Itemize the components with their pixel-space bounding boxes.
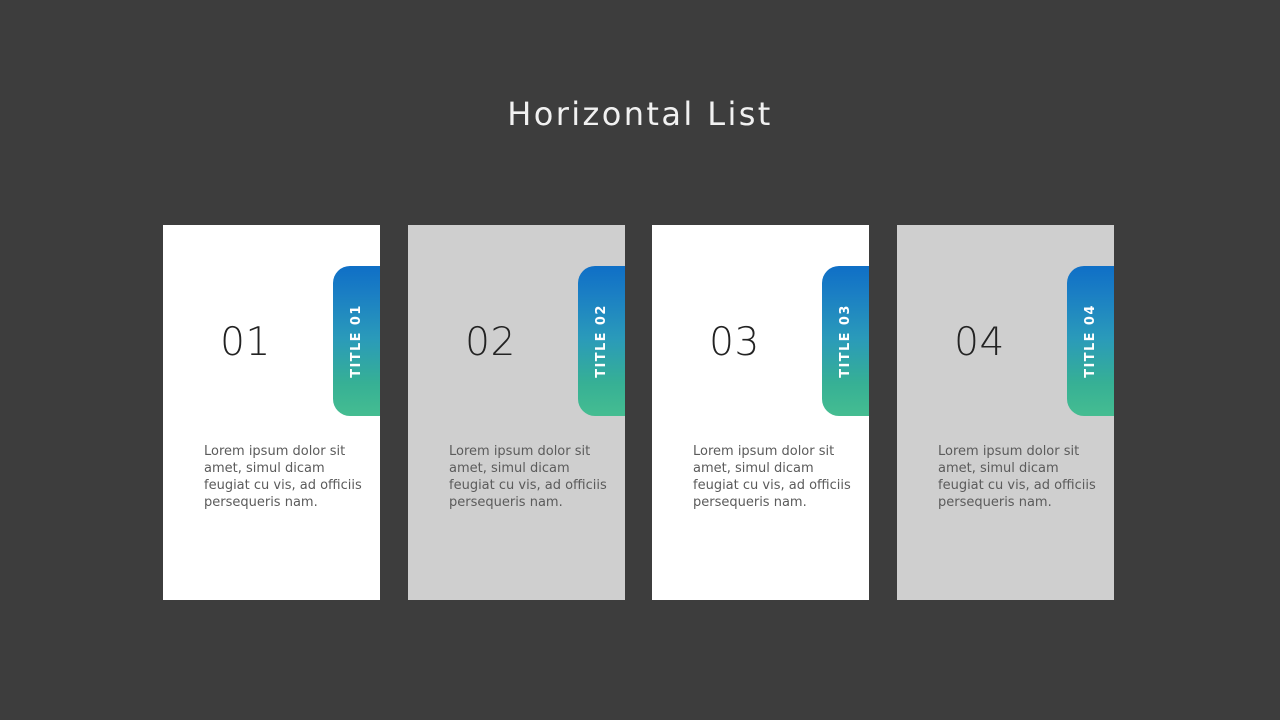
item-body-line-2: feugiat cu vis, ad officiis persequeris … (938, 477, 1098, 511)
horizontal-list-container: 01 TITLE 01 Lorem ipsum dolor sit amet, … (163, 225, 1123, 600)
item-body-line-1: Lorem ipsum dolor sit amet, simul dicam (693, 443, 853, 477)
item-title-label: TITLE 02 (578, 266, 625, 416)
item-body: Lorem ipsum dolor sit amet, simul dicam … (204, 443, 364, 511)
item-body: Lorem ipsum dolor sit amet, simul dicam … (693, 443, 853, 511)
item-body: Lorem ipsum dolor sit amet, simul dicam … (938, 443, 1098, 511)
item-title-label: TITLE 03 (822, 266, 869, 416)
list-item[interactable]: 02 TITLE 02 Lorem ipsum dolor sit amet, … (408, 225, 625, 600)
slide-canvas: Horizontal List 01 TITLE 01 Lorem ipsum … (0, 0, 1280, 720)
list-item[interactable]: 04 TITLE 04 Lorem ipsum dolor sit amet, … (897, 225, 1114, 600)
item-body-line-1: Lorem ipsum dolor sit amet, simul dicam (204, 443, 364, 477)
item-body-line-2: feugiat cu vis, ad officiis persequeris … (204, 477, 364, 511)
item-body-line-2: feugiat cu vis, ad officiis persequeris … (693, 477, 853, 511)
item-number: 04 (897, 322, 1062, 364)
item-body: Lorem ipsum dolor sit amet, simul dicam … (449, 443, 609, 511)
page-title: Horizontal List (0, 95, 1280, 133)
item-body-line-1: Lorem ipsum dolor sit amet, simul dicam (938, 443, 1098, 477)
item-number: 02 (408, 322, 573, 364)
item-title-tab[interactable]: TITLE 02 (578, 266, 625, 416)
item-title-tab[interactable]: TITLE 01 (333, 266, 380, 416)
item-title-label: TITLE 04 (1067, 266, 1114, 416)
item-title-tab[interactable]: TITLE 03 (822, 266, 869, 416)
item-body-line-1: Lorem ipsum dolor sit amet, simul dicam (449, 443, 609, 477)
item-title-label: TITLE 01 (333, 266, 380, 416)
list-item[interactable]: 01 TITLE 01 Lorem ipsum dolor sit amet, … (163, 225, 380, 600)
item-number: 01 (163, 322, 328, 364)
item-number: 03 (652, 322, 817, 364)
list-item[interactable]: 03 TITLE 03 Lorem ipsum dolor sit amet, … (652, 225, 869, 600)
item-body-line-2: feugiat cu vis, ad officiis persequeris … (449, 477, 609, 511)
item-title-tab[interactable]: TITLE 04 (1067, 266, 1114, 416)
